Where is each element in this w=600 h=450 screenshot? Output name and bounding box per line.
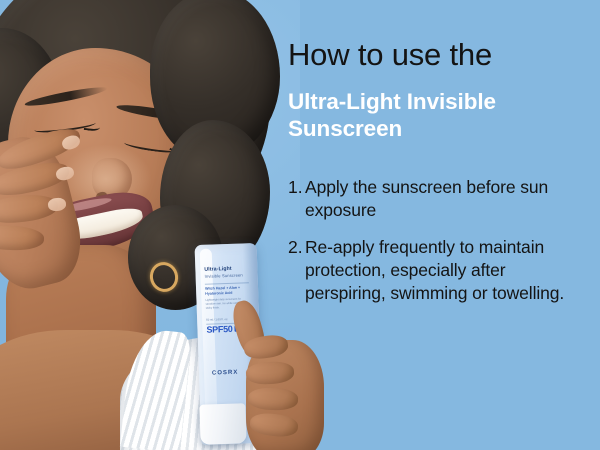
list-item: 2. Re-apply frequently to maintain prote… bbox=[288, 236, 588, 306]
text-panel: How to use the Ultra-Light Invisible Sun… bbox=[288, 0, 600, 450]
list-item-number: 1. bbox=[288, 176, 305, 223]
list-item-text: Apply the sunscreen before sun exposure bbox=[305, 176, 588, 223]
instruction-list: 1. Apply the sunscreen before sun exposu… bbox=[288, 176, 588, 318]
page-title: How to use the bbox=[288, 37, 492, 73]
tube-brand-logo: COSRX bbox=[212, 370, 239, 377]
list-item-number: 2. bbox=[288, 236, 305, 306]
promo-graphic: Ultra-Light Invisible Sunscreen Witch Ha… bbox=[0, 0, 600, 450]
tube-divider-top bbox=[205, 282, 249, 284]
spf-value: SPF50 bbox=[206, 324, 232, 335]
tube-ingredients: Witch Hazel + Aloe + Hyaluronic Acid bbox=[205, 285, 251, 296]
tube-product-subtitle: Invisible Sunscreen bbox=[205, 273, 243, 279]
product-title: Ultra-Light Invisible Sunscreen bbox=[288, 88, 560, 143]
tube-volume: 50 ml / 1.69 fl. oz. bbox=[206, 318, 228, 322]
list-item: 1. Apply the sunscreen before sun exposu… bbox=[288, 176, 588, 223]
list-item-text: Re-apply frequently to maintain protecti… bbox=[305, 236, 588, 306]
tube-cap bbox=[199, 403, 246, 445]
tube-product-name: Ultra-Light bbox=[204, 266, 232, 273]
